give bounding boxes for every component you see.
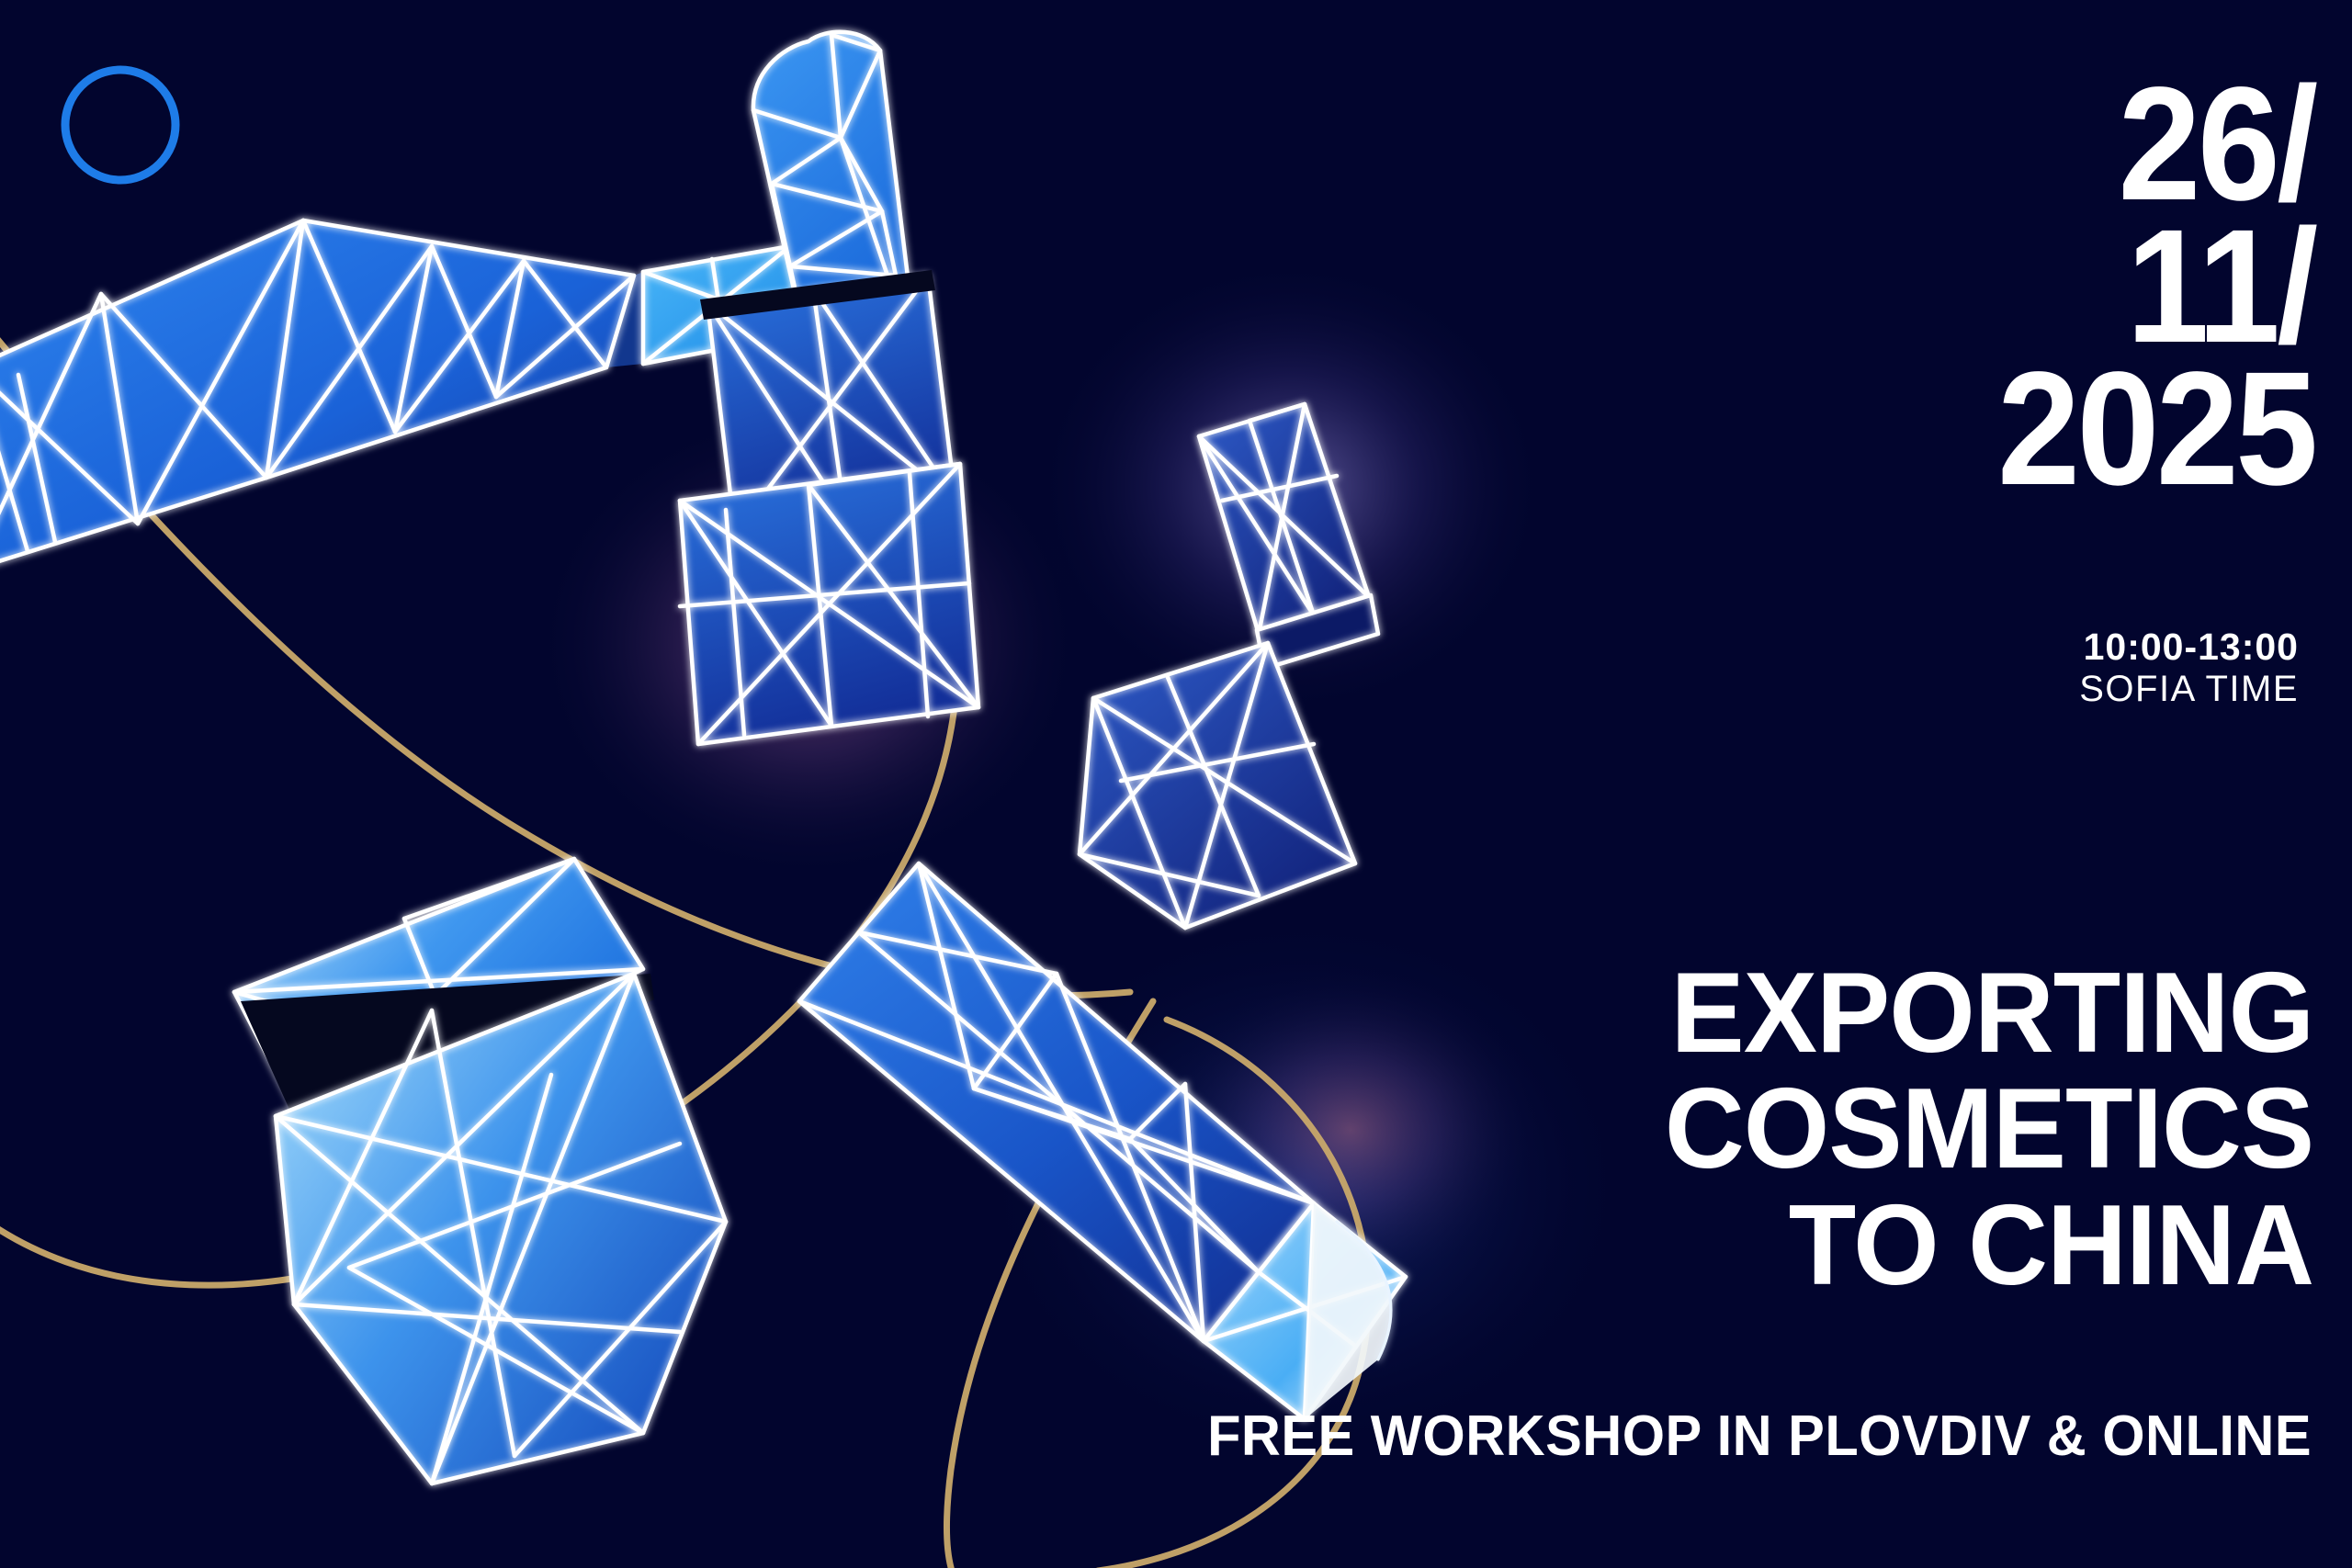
date-line-month: 11/: [1998, 216, 2315, 358]
event-time: 10:00-13:00 SOFIA TIME: [2079, 626, 2299, 710]
headline-line-2: COSMETICS: [1665, 1071, 2313, 1187]
headline-line-1: EXPORTING: [1665, 955, 2313, 1071]
event-subtitle: FREE WORKSHOP IN PLOVDIV & ONLINE: [1207, 1404, 2312, 1469]
event-date: 26/ 11/ 2025: [1998, 73, 2315, 501]
time-range: 10:00-13:00: [2079, 626, 2299, 669]
circle-ring-logo[interactable]: [65, 70, 175, 180]
date-line-day: 26/: [1998, 73, 2315, 216]
poster-canvas: .edge{stroke:#ffffff;stroke-width:4.5;fi…: [0, 0, 2352, 1568]
lipstick: [680, 32, 978, 744]
time-zone: SOFIA TIME: [2079, 669, 2299, 710]
headline-line-3: TO CHINA: [1665, 1188, 2313, 1303]
date-line-year: 2025: [1998, 358, 2315, 501]
event-headline: EXPORTING COSMETICS TO CHINA: [1665, 955, 2313, 1303]
cream-jar: [234, 859, 726, 1483]
